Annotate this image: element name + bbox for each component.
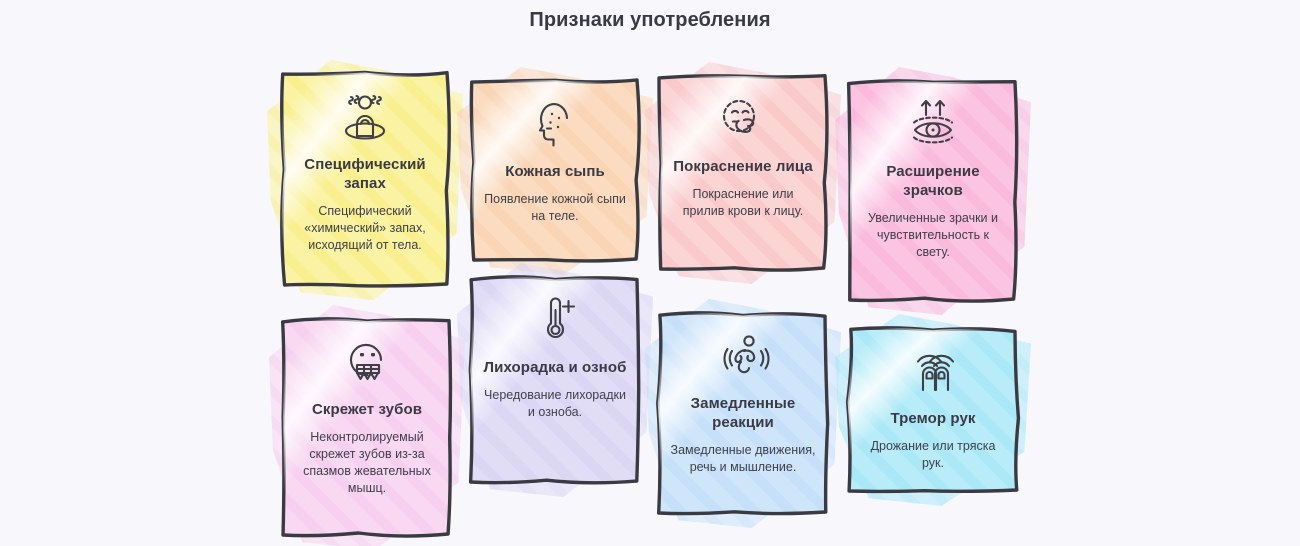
card-title: Специфический запах xyxy=(292,155,438,193)
dilated-eye-icon xyxy=(860,98,1006,150)
card-description: Неконтролируемый скрежет зубов из-за спа… xyxy=(294,429,440,497)
body-odor-icon xyxy=(292,91,438,143)
card-description: Чередование лихорадки и озноба. xyxy=(482,387,628,421)
slow-runner-icon xyxy=(670,330,816,382)
flushed-face-icon xyxy=(670,93,816,145)
symptom-card-board: Специфический запахСпецифический «химиче… xyxy=(0,0,1300,546)
card-title: Лихорадка и озноб xyxy=(484,358,627,377)
card-description: Покраснение или прилив крови к лицу. xyxy=(670,186,816,220)
symptom-card-fever-chills[interactable]: Лихорадка и ознобЧередование лихорадки и… xyxy=(470,276,640,484)
card-description: Увеличенные зрачки и чувствительность к … xyxy=(860,210,1006,261)
card-description: Специфический «химический» запах, исходя… xyxy=(292,203,438,254)
symptom-card-hand-tremor[interactable]: Тремор рукДрожание или тряска рук. xyxy=(848,327,1018,493)
symptom-card-specific-smell[interactable]: Специфический запахСпецифический «химиче… xyxy=(280,73,450,287)
symptom-card-teeth-grinding[interactable]: Скрежет зубовНеконтролируемый скрежет зу… xyxy=(282,318,452,537)
grinding-teeth-icon xyxy=(294,336,440,388)
card-title: Скрежет зубов xyxy=(312,400,422,419)
card-stripe-bleed-layer xyxy=(0,0,1300,546)
trembling-hands-icon xyxy=(860,345,1006,397)
symptom-card-slowed-reactions[interactable]: Замедленные реакцииЗамедленные движения,… xyxy=(658,312,828,515)
symptom-card-skin-rash[interactable]: Кожная сыпьПоявление кожной сыпи на теле… xyxy=(470,80,640,262)
symptom-card-dilated-pupils[interactable]: Расширение зрачковУвеличенные зрачки и ч… xyxy=(848,80,1018,302)
card-title: Расширение зрачков xyxy=(860,162,1006,200)
thermometer-icon xyxy=(482,294,628,346)
card-description: Появление кожной сыпи на теле. xyxy=(482,191,628,225)
card-title: Покраснение лица xyxy=(673,157,813,176)
card-description: Дрожание или тряска рук. xyxy=(860,438,1006,472)
card-title: Замедленные реакции xyxy=(670,394,816,432)
card-description: Замедленные движения, речь и мышление. xyxy=(670,442,816,476)
symptom-card-facial-redness[interactable]: Покраснение лицаПокраснение или прилив к… xyxy=(658,75,828,271)
rash-face-icon xyxy=(482,98,628,150)
card-title: Кожная сыпь xyxy=(505,162,605,181)
card-title: Тремор рук xyxy=(890,409,975,428)
